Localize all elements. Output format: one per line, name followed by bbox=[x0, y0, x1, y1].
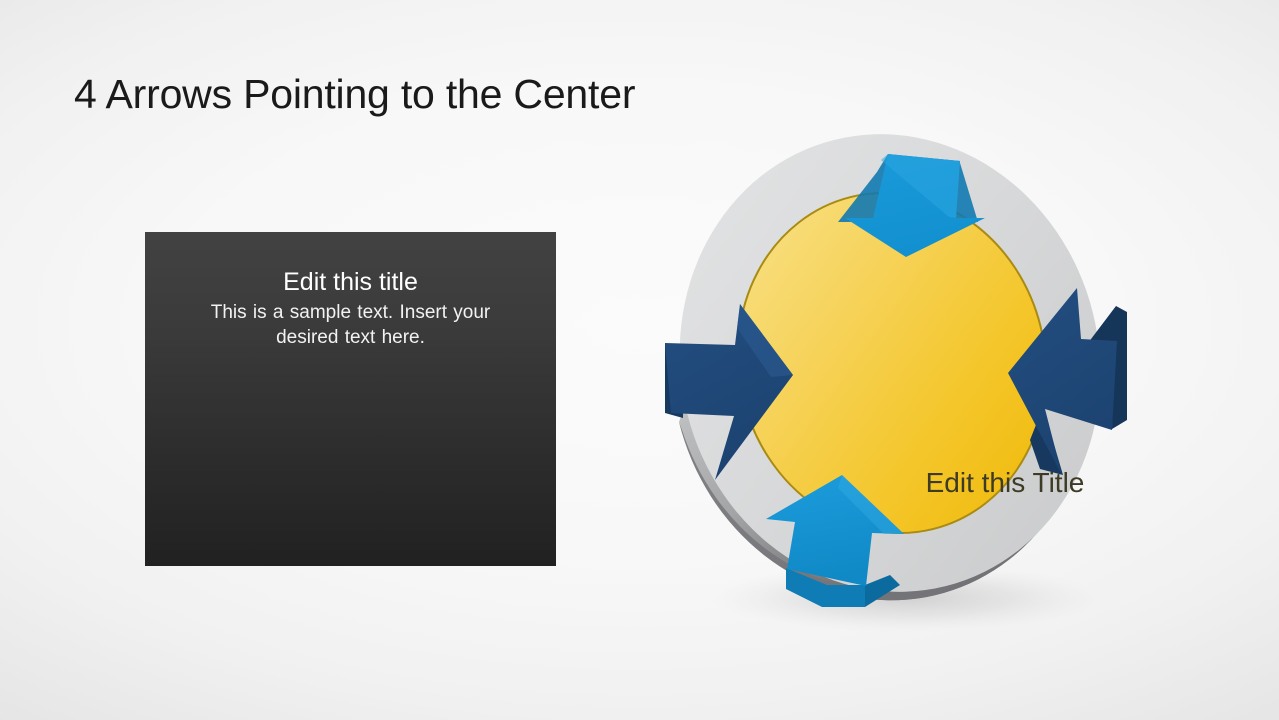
page-title: 4 Arrows Pointing to the Center bbox=[74, 67, 1074, 121]
text-panel-title: Edit this title bbox=[145, 267, 556, 297]
text-panel[interactable]: Edit this title This is a sample text. I… bbox=[145, 232, 556, 566]
text-panel-body: This is a sample text. Insert your desir… bbox=[195, 300, 506, 350]
four-arrows-diagram[interactable]: Edit this Title bbox=[640, 130, 1160, 640]
slide-canvas: 4 Arrows Pointing to the Center Edit thi… bbox=[0, 0, 1279, 720]
